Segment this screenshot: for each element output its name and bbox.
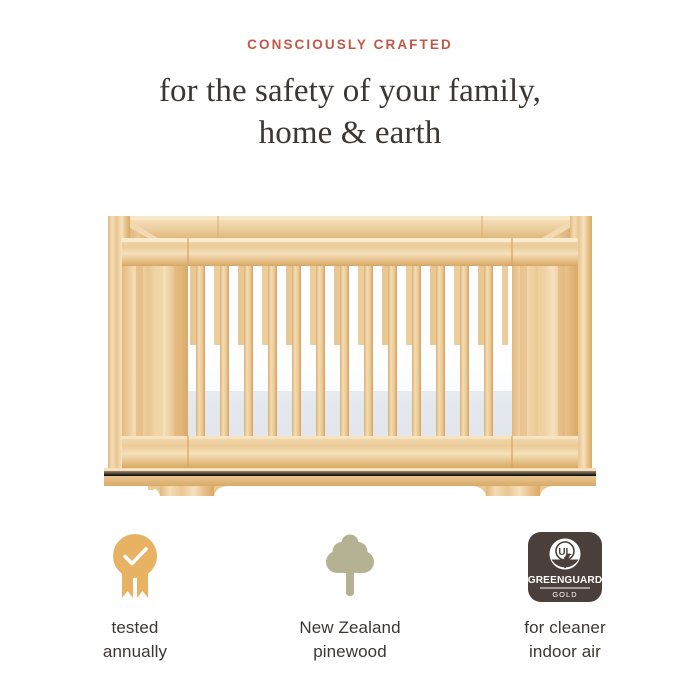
feature-icon-wrap [108, 528, 162, 606]
tree-icon [320, 532, 380, 602]
crib-front-top-rail [122, 238, 578, 266]
feature-caption: for cleaner indoor air [524, 616, 605, 664]
crib-left-front-end [122, 238, 188, 446]
award-badge-icon [108, 532, 162, 602]
product-image [0, 186, 700, 511]
crib-right-front-end [512, 238, 578, 446]
crib-back-top-rail [122, 216, 578, 238]
header: CONSCIOUSLY CRAFTED for the safety of yo… [0, 38, 700, 155]
crib-illustration [100, 186, 600, 496]
greenguard-level-text: GOLD [552, 590, 577, 599]
feature-caption-line-1: New Zealand [299, 618, 400, 637]
greenguard-gold-badge-icon: UL GREENGUARD GOLD [527, 531, 603, 603]
ul-mark-text: UL [558, 547, 571, 558]
feature-cleaner-indoor-air: UL GREENGUARD GOLD for cleaner indoor ai… [458, 528, 673, 664]
feature-new-zealand-pinewood: New Zealand pinewood [243, 528, 458, 664]
crib-base-plinth [104, 468, 596, 496]
feature-icon-wrap [320, 528, 380, 606]
feature-caption-line-2: annually [103, 640, 167, 664]
feature-caption: New Zealand pinewood [299, 616, 400, 664]
promotional-graphic: CONSCIOUSLY CRAFTED for the safety of yo… [0, 0, 700, 700]
feature-caption-line-1: tested [112, 618, 159, 637]
feature-icon-wrap: UL GREENGUARD GOLD [527, 528, 603, 606]
crib-front-bottom-rail [122, 436, 578, 468]
feature-caption-line-2: pinewood [299, 640, 400, 664]
page-title: for the safety of your family, home & ea… [0, 70, 700, 156]
feature-caption-line-1: for cleaner [524, 618, 605, 637]
greenguard-name-text: GREENGUARD [528, 575, 603, 586]
feature-tested-annually: tested annually [28, 528, 243, 664]
feature-list: tested annually [0, 528, 700, 664]
feature-caption: tested annually [103, 616, 167, 664]
eyebrow-text: CONSCIOUSLY CRAFTED [0, 38, 700, 52]
headline-line-1: for the safety of your family, [159, 73, 541, 109]
feature-caption-line-2: indoor air [524, 640, 605, 664]
headline-line-2: home & earth [0, 112, 700, 155]
